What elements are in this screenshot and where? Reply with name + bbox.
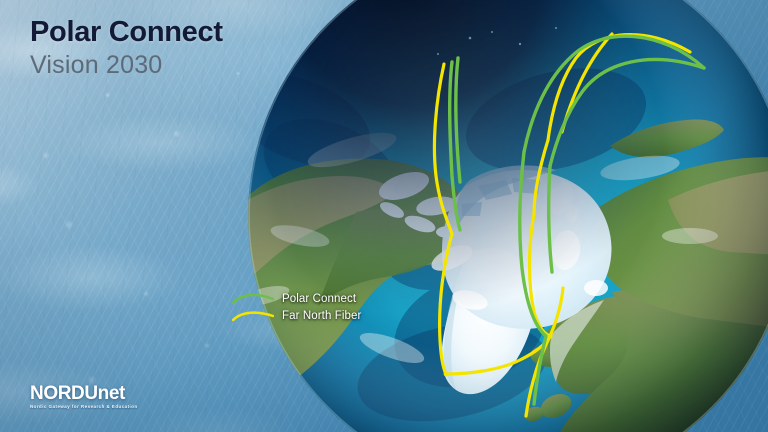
legend-item-far-north-fiber[interactable]: Far North Fiber [232,307,361,324]
page-subtitle: Vision 2030 [30,53,223,78]
legend-swatch-green-curve [232,292,274,306]
logo-wordmark: NORDUnet [30,384,138,403]
title-block: Polar Connect Vision 2030 [30,18,223,78]
legend-label-polar-connect: Polar Connect [282,293,356,305]
logo-wordmark-light: net [98,383,125,404]
legend-label-far-north-fiber: Far North Fiber [282,310,361,322]
page-title: Polar Connect [30,18,223,47]
nordunet-logo[interactable]: NORDUnet Nordic Gateway for Research & E… [30,384,138,409]
legend-swatch-yellow-curve [232,309,274,323]
logo-wordmark-bold: NORDU [30,383,98,404]
globe-surface [216,0,768,432]
poster-canvas: Polar Connect Vision 2030 Polar Connect … [0,0,768,432]
logo-tagline: Nordic Gateway for Research & Education [30,405,138,409]
map-legend: Polar Connect Far North Fiber [232,290,361,324]
legend-item-polar-connect[interactable]: Polar Connect [232,290,361,307]
